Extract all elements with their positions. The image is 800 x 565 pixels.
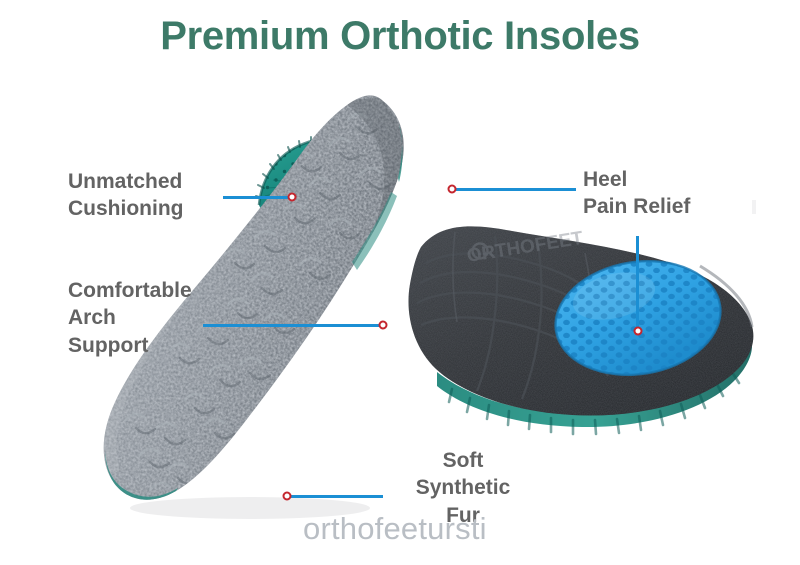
watermark-text: orthofeetursti xyxy=(303,511,487,547)
marker-arch-support xyxy=(379,321,388,330)
fur-insole-teal-rim xyxy=(105,451,178,500)
marker-cushioning xyxy=(288,193,297,202)
black-insole-graphic: ORTHOFEET xyxy=(408,226,753,434)
marker-soft-synthetic-fur xyxy=(283,492,292,501)
heelcup-contour-lines xyxy=(417,236,617,399)
sole-edge-teal xyxy=(437,330,752,427)
infographic-canvas: Premium Orthotic Insoles xyxy=(0,0,800,565)
lead-line-arch-support xyxy=(203,324,384,327)
svg-text:ORTHOFEET: ORTHOFEET xyxy=(465,228,584,267)
lead-line-cushioning xyxy=(223,196,293,199)
lead-line-heel-pain-relief xyxy=(452,188,576,191)
lead-line-heel-gel xyxy=(636,236,639,332)
callout-label-arch-support: Comfortable Arch Support xyxy=(68,277,192,359)
black-heel-cup xyxy=(408,226,753,415)
teal-toe-footbed xyxy=(250,130,375,240)
lead-line-soft-synthetic-fur xyxy=(287,495,383,498)
edge-artifact xyxy=(752,200,756,214)
brand-emboss: ORTHOFEET xyxy=(465,228,584,267)
callout-label-cushioning: Unmatched Cushioning xyxy=(68,168,183,223)
marker-heel-pain-relief xyxy=(448,185,457,194)
page-title: Premium Orthotic Insoles xyxy=(0,14,800,59)
callout-label-heel-pain-relief: Heel Pain Relief xyxy=(583,166,690,221)
marker-heel-gel-pad xyxy=(634,327,643,336)
